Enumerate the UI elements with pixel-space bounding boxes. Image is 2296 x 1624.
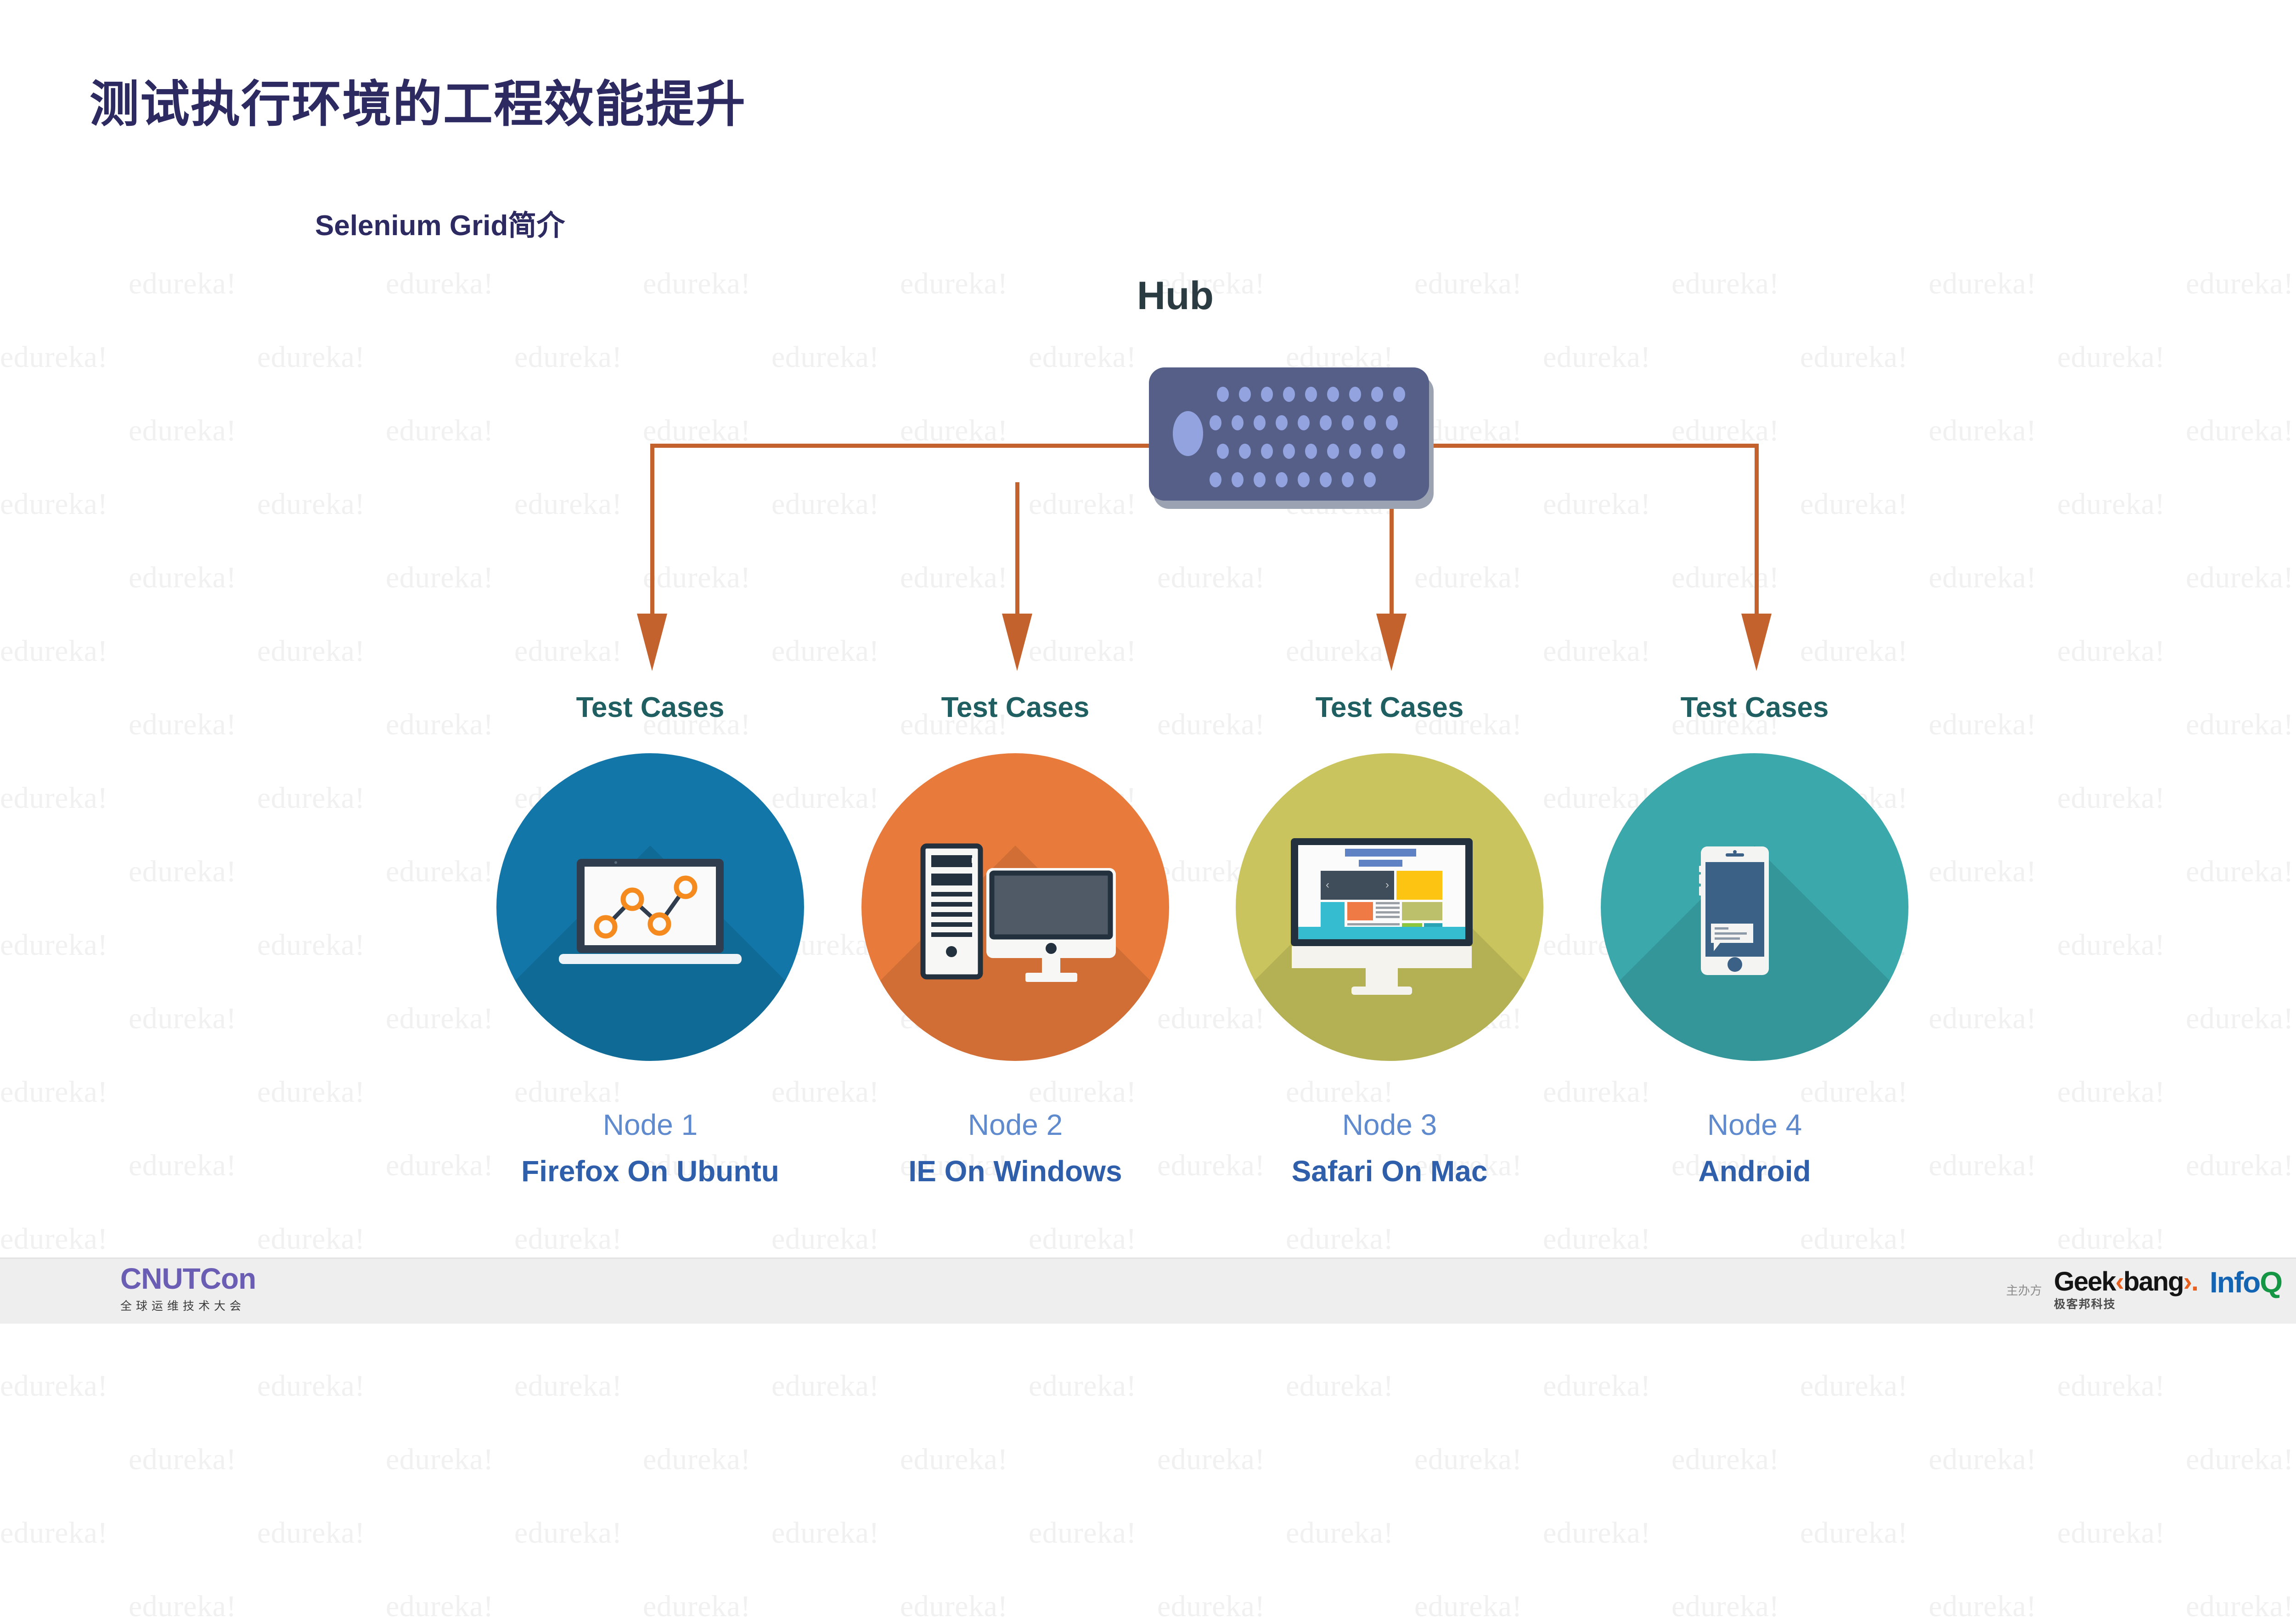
watermark-text: edureka! [1414, 1442, 1522, 1477]
node-4-circle[interactable] [1601, 753, 1908, 1061]
svg-text:‹: ‹ [1326, 879, 1329, 891]
hub-dot-row [1217, 387, 1405, 402]
node-3-name: Node 3 [1238, 1108, 1541, 1142]
connector-vertical-4 [1755, 444, 1759, 627]
watermark-text: edureka! [1929, 1589, 2037, 1624]
watermark-text: edureka! [257, 1516, 365, 1551]
geekbang-tagline: 极客邦科技 [2054, 1299, 2198, 1310]
page-title: 测试执行环境的工程效能提升 [90, 64, 746, 136]
connector-horizontal-left [650, 444, 1165, 448]
connector-horizontal-right [1414, 444, 1758, 448]
test-cases-label-1: Test Cases [499, 691, 802, 724]
geekbang-chevron-left-icon: ‹ [2116, 1267, 2123, 1297]
hub-status-oval [1173, 411, 1203, 456]
watermark-text: edureka! [1029, 1369, 1137, 1404]
watermark-text: edureka! [1157, 1442, 1265, 1477]
cnutcon-tagline: 全球运维技术大会 [120, 1297, 256, 1314]
watermark-text: edureka! [0, 1369, 108, 1404]
watermark-text: edureka! [514, 1369, 622, 1404]
node-2-name: Node 2 [864, 1108, 1167, 1142]
watermark-text: edureka! [129, 1589, 236, 1624]
hub-label: Hub [0, 273, 2296, 319]
test-cases-label-2: Test Cases [864, 691, 1167, 724]
watermark-text: edureka! [386, 1442, 494, 1477]
watermark-text: edureka! [1800, 1369, 1908, 1404]
sponsor-label: 主办方 [2006, 1281, 2042, 1298]
watermark-text: edureka! [2057, 1369, 2165, 1404]
watermark-text: edureka! [900, 1442, 1008, 1477]
watermark-text: edureka! [1029, 1516, 1137, 1551]
connector-arrowhead-4 [1741, 614, 1772, 671]
watermark-text: edureka! [1286, 1369, 1394, 1404]
geekbang-wordmark: Geek‹bang›. [2054, 1269, 2198, 1295]
node-2-circle[interactable] [861, 753, 1169, 1061]
svg-text:›: › [1385, 879, 1389, 891]
watermark-text: edureka! [900, 1589, 1008, 1624]
watermark-text: edureka! [1543, 1516, 1651, 1551]
network-hub-device-icon [1149, 367, 1429, 501]
watermark-text: edureka! [1671, 1589, 1779, 1624]
hub-body [1149, 367, 1429, 501]
infoq-logo: InfoQ [2210, 1268, 2282, 1297]
connector-arrowhead-1 [637, 614, 667, 671]
watermark-text: edureka! [1671, 1442, 1779, 1477]
watermark-text: edureka! [2186, 1442, 2294, 1477]
watermark-text: edureka! [643, 1589, 751, 1624]
geekbang-text-part1: Geek [2054, 1267, 2116, 1297]
infoq-text-q: Q [2260, 1266, 2282, 1299]
connector-vertical-2 [1015, 482, 1019, 627]
watermark-text: edureka! [1157, 1589, 1265, 1624]
laptop-line-chart-icon [496, 753, 804, 1061]
hub-dot-row [1217, 444, 1405, 459]
node-4-name: Node 4 [1603, 1108, 1906, 1142]
watermark-text: edureka! [643, 1442, 751, 1477]
node-1-circle[interactable] [496, 753, 804, 1061]
watermark-text: edureka! [0, 1516, 108, 1551]
geekbang-text-part2: bang [2123, 1267, 2183, 1297]
hub-dot-row [1210, 472, 1376, 487]
geekbang-chevron-right-icon: ›. [2183, 1267, 2198, 1297]
watermark-text: edureka! [2057, 1516, 2165, 1551]
watermark-text: edureka! [386, 1589, 494, 1624]
watermark-text: edureka! [1286, 1516, 1394, 1551]
cnutcon-wordmark: CNUTCon [120, 1264, 256, 1293]
node-1-description: Firefox On Ubuntu [462, 1154, 838, 1188]
imac-webpage-icon: ‹ › [1236, 753, 1543, 1061]
node-3-description: Safari On Mac [1201, 1154, 1578, 1188]
watermark-text: edureka! [1543, 1369, 1651, 1404]
watermark-text: edureka! [1929, 1442, 2037, 1477]
node-2-description: IE On Windows [827, 1154, 1204, 1188]
watermark-text: edureka! [129, 1442, 236, 1477]
cnutcon-logo: CNUTCon 全球运维技术大会 [120, 1264, 256, 1314]
hub-dot-row [1210, 415, 1398, 430]
watermark-text: edureka! [514, 1516, 622, 1551]
watermark-text: edureka! [1414, 1589, 1522, 1624]
watermark-text: edureka! [771, 1369, 879, 1404]
connector-vertical-1 [650, 444, 654, 627]
watermark-text: edureka! [257, 1369, 365, 1404]
geekbang-logo: Geek‹bang›. 极客邦科技 [2054, 1269, 2198, 1310]
watermark-text: edureka! [1800, 1516, 1908, 1551]
watermark-text: edureka! [2186, 1589, 2294, 1624]
connector-arrowhead-2 [1002, 614, 1032, 671]
smartphone-chat-icon [1601, 753, 1908, 1061]
connector-arrowhead-3 [1376, 614, 1407, 671]
infoq-text-info: Info [2210, 1266, 2260, 1299]
node-3-circle[interactable]: ‹ › [1236, 753, 1543, 1061]
test-cases-label-3: Test Cases [1238, 691, 1541, 724]
desktop-tower-monitor-icon [861, 753, 1169, 1061]
node-1-name: Node 1 [499, 1108, 802, 1142]
node-4-description: Android [1566, 1154, 1943, 1188]
footer-bar [0, 1257, 2296, 1324]
watermark-text: edureka! [771, 1516, 879, 1551]
test-cases-label-4: Test Cases [1603, 691, 1906, 724]
slide-subtitle: Selenium Grid简介 [315, 202, 565, 243]
selenium-grid-diagram: Hub [0, 0, 2296, 1322]
sponsor-group: 主办方 Geek‹bang›. 极客邦科技 InfoQ [2006, 1269, 2282, 1310]
